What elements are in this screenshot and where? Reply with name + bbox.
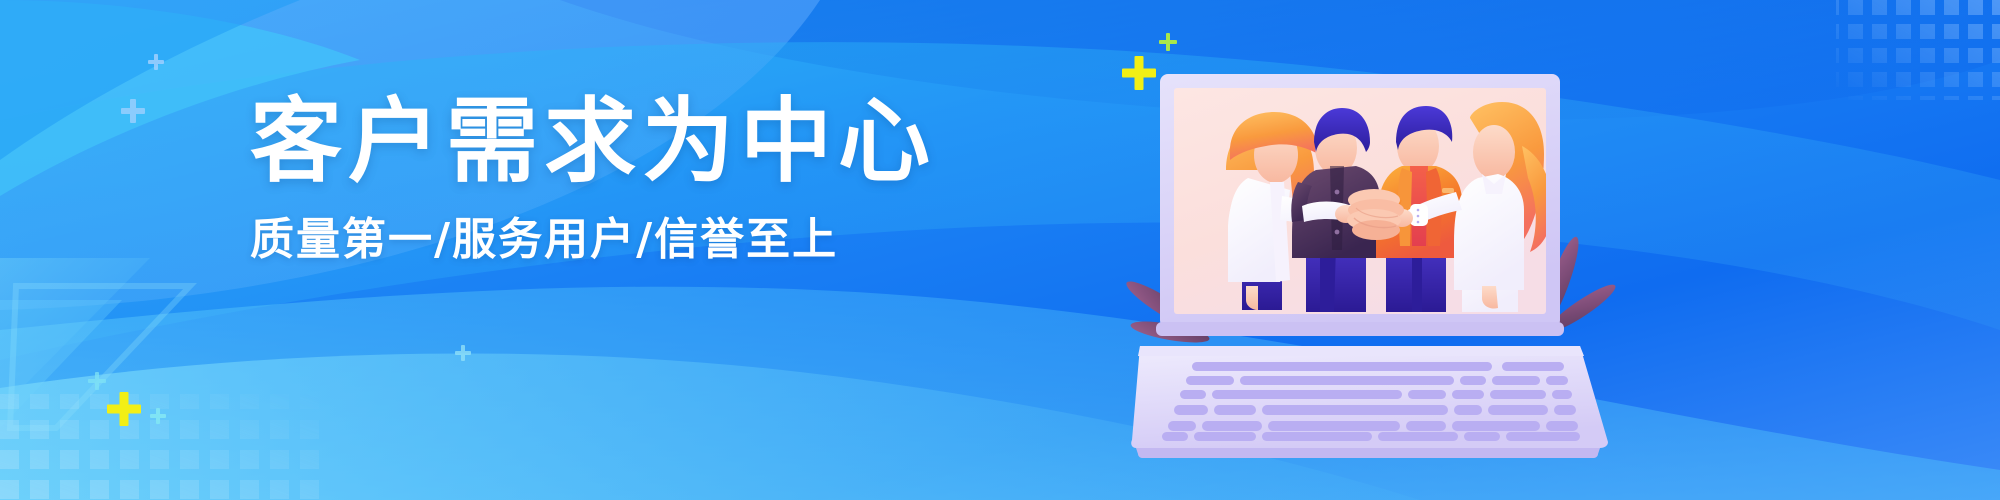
plus-cyan-right-icon: [455, 345, 471, 361]
banner-headline: 客户需求为中心: [250, 96, 910, 188]
laptop-base: [1131, 322, 1608, 458]
plus-cyan-upper-icon: [88, 372, 106, 390]
plus-yellow-bottom-icon: [107, 392, 141, 426]
banner-copy: 客户需求为中心 质量第一/服务用户/信誉至上: [250, 96, 910, 264]
plus-yellow-laptop-icon: [1122, 56, 1156, 90]
stacked-hands: [1347, 189, 1404, 240]
plus-white-left-icon: [121, 99, 145, 123]
laptop-teamwork-illustration: [1130, 50, 1610, 450]
plus-white-mid-icon: [148, 54, 164, 70]
plus-green-small-icon: [1159, 33, 1177, 51]
banner-subline: 质量第一/服务用户/信誉至上: [250, 216, 910, 264]
promo-banner: 客户需求为中心 质量第一/服务用户/信誉至上: [0, 0, 2000, 500]
dotgrid-top-right: [1836, 0, 2000, 100]
plus-cyan-bottom-icon: [150, 408, 166, 424]
